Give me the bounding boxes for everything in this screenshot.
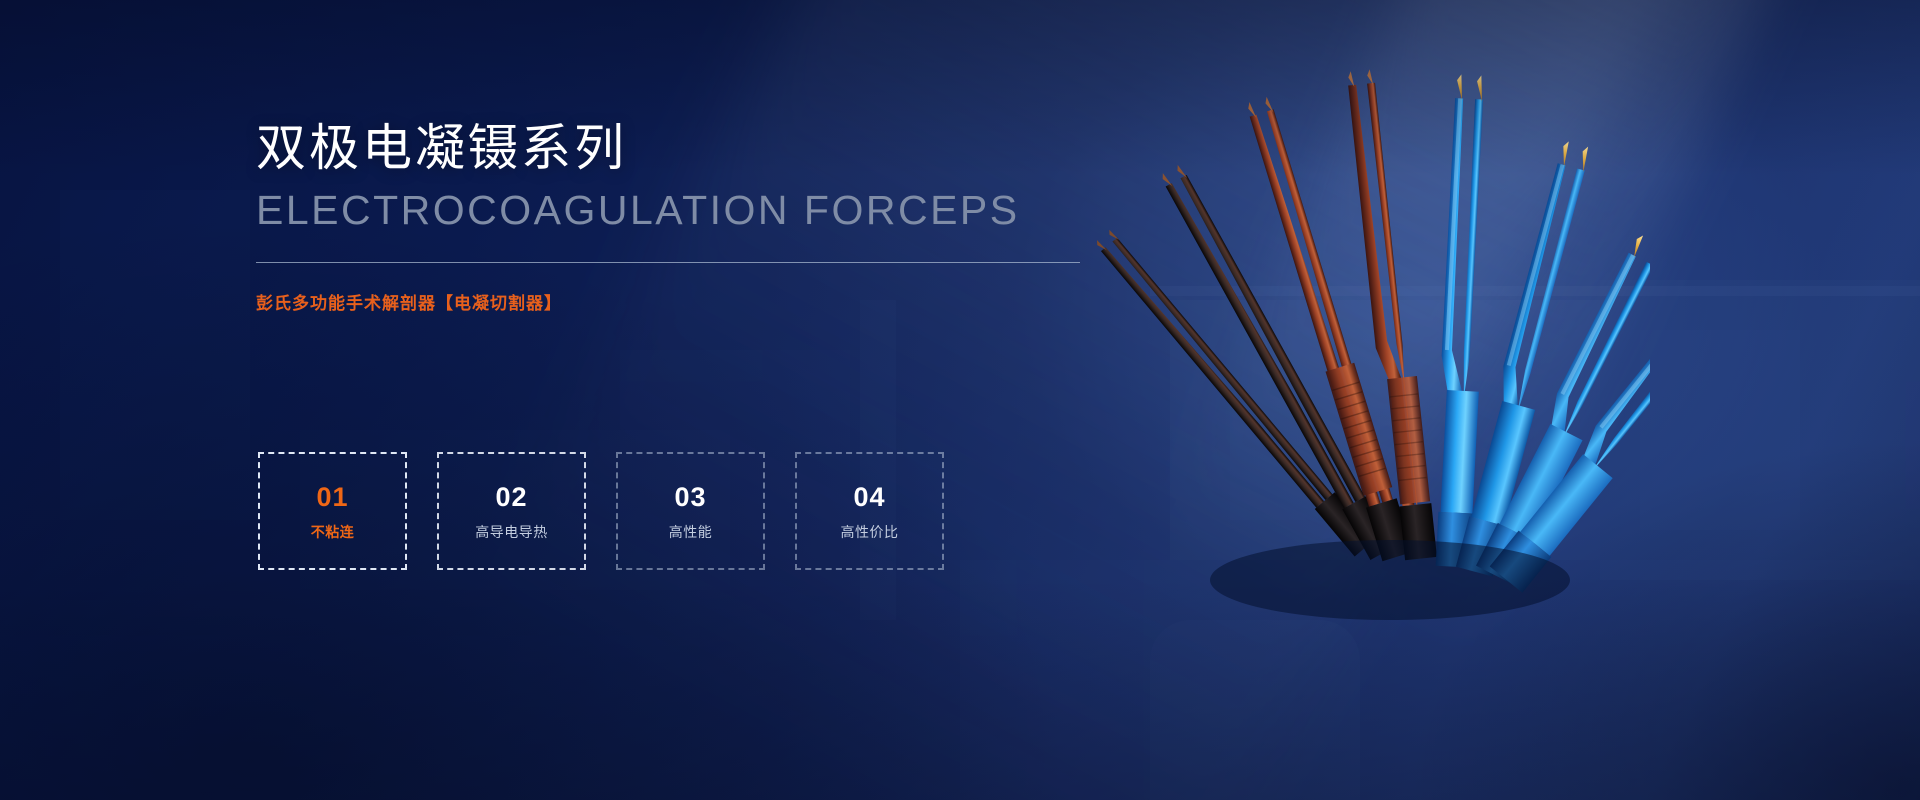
room-shape bbox=[1150, 620, 1360, 800]
forceps-artwork bbox=[1090, 60, 1650, 620]
product-banner: 双极电凝镊系列 ELECTROCOAGULATION FORCEPS 彭氏多功能… bbox=[0, 0, 1920, 800]
feature-number: 01 bbox=[316, 480, 348, 514]
feature-label: 高导电导热 bbox=[475, 522, 548, 542]
room-shape bbox=[1600, 280, 1920, 580]
room-shape bbox=[1640, 330, 1800, 530]
feature-label: 高性价比 bbox=[841, 522, 899, 542]
feature-number: 04 bbox=[853, 480, 885, 514]
page-title-english: ELECTROCOAGULATION FORCEPS bbox=[256, 184, 1096, 236]
forceps-blue-2 bbox=[1450, 140, 1606, 576]
banner-content: 双极电凝镊系列 ELECTROCOAGULATION FORCEPS 彭氏多功能… bbox=[256, 118, 1096, 317]
feature-box-01[interactable]: 01 不粘连 bbox=[258, 452, 407, 570]
room-shape bbox=[1230, 330, 1380, 520]
forceps-blue-1 bbox=[1431, 74, 1498, 567]
forceps-blue-4 bbox=[1485, 342, 1650, 593]
feature-box-02[interactable]: 02 高导电导热 bbox=[437, 452, 586, 570]
room-shape bbox=[1150, 286, 1920, 296]
product-subtitle: 彭氏多功能手术解剖器【电凝切割器】 bbox=[256, 291, 1096, 317]
room-shape bbox=[960, 560, 1920, 800]
room-shape bbox=[1170, 300, 1600, 560]
forceps-brown-1 bbox=[1243, 95, 1413, 561]
room-shape bbox=[60, 190, 250, 520]
light-beam-2-icon bbox=[1121, 0, 1870, 760]
forceps-dark-2 bbox=[1158, 162, 1395, 560]
page-title: 双极电凝镊系列 bbox=[256, 118, 1096, 178]
room-shape bbox=[0, 600, 700, 800]
feature-label: 高性能 bbox=[669, 522, 713, 542]
feature-label: 不粘连 bbox=[311, 522, 355, 542]
feature-number: 03 bbox=[674, 480, 706, 514]
feature-number: 02 bbox=[495, 480, 527, 514]
forceps-blue-3 bbox=[1471, 233, 1650, 584]
forceps-brown-2 bbox=[1347, 68, 1437, 561]
title-divider bbox=[256, 262, 1080, 263]
feature-list: 01 不粘连 02 高导电导热 03 高性能 04 高性价比 bbox=[258, 452, 944, 570]
forceps-dark-1 bbox=[1092, 227, 1374, 556]
feature-box-04[interactable]: 04 高性价比 bbox=[795, 452, 944, 570]
feature-box-03[interactable]: 03 高性能 bbox=[616, 452, 765, 570]
